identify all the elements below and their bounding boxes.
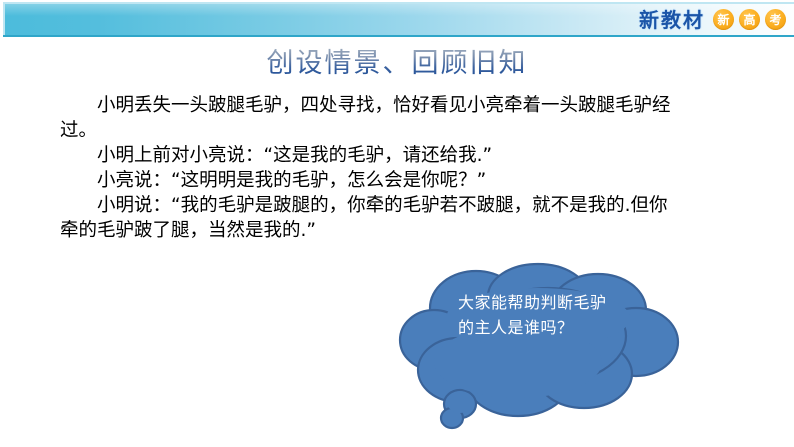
brand-cluster: 新教材 新 高 考 xyxy=(639,5,786,34)
page-title: 创设情景、回顾旧知 xyxy=(0,48,794,79)
badge-kao: 考 xyxy=(765,9,786,30)
paragraph-1: 小明丢失一头跛腿毛驴，四处寻找，恰好看见小亮牵着一头跛腿毛驴经过。 xyxy=(60,93,680,143)
badge-gao: 高 xyxy=(739,9,760,30)
slide-canvas: 新教材 新 高 考 创设情景、回顾旧知 小明丢失一头跛腿毛驴，四处寻找，恰好看见… xyxy=(0,0,794,447)
paragraph-4: 小明说：“我的毛驴是跛腿的，你牵的毛驴若不跛腿，就不是我的.但你牵的毛驴跛了腿，… xyxy=(60,193,680,243)
header-banner: 新教材 新 高 考 xyxy=(3,2,794,37)
body-text-block: 小明丢失一头跛腿毛驴，四处寻找，恰好看见小亮牵着一头跛腿毛驴经过。 小明上前对小… xyxy=(60,93,680,243)
badge-xin: 新 xyxy=(713,9,734,30)
thought-cloud-text: 大家能帮助判断毛驴的主人是谁吗？ xyxy=(458,290,610,340)
thought-cloud-shape xyxy=(398,262,688,442)
paragraph-3: 小亮说：“这明明是我的毛驴，怎么会是你呢？” xyxy=(60,168,680,193)
brand-label: 新教材 xyxy=(639,10,708,30)
paragraph-2: 小明上前对小亮说：“这是我的毛驴，请还给我.” xyxy=(60,143,680,168)
thought-cloud: 大家能帮助判断毛驴的主人是谁吗？ xyxy=(398,262,688,442)
